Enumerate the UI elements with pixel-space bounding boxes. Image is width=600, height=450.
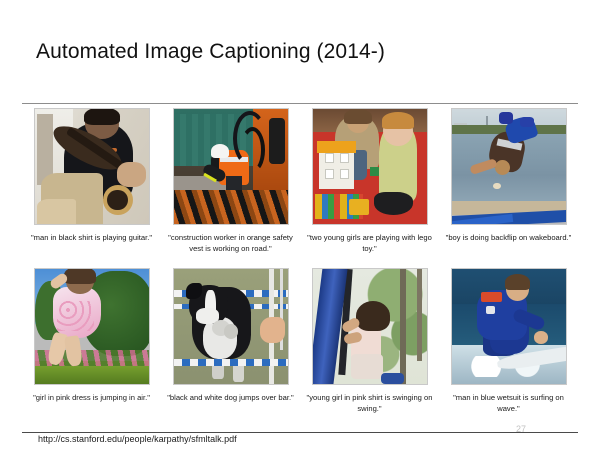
bottom-divider — [22, 432, 578, 433]
example-cell: "man in blue wetsuit is surfing on wave.… — [439, 268, 578, 414]
image-caption: "young girl in pink shirt is swinging on… — [305, 392, 435, 414]
image-caption: "man in black shirt is playing guitar." — [27, 232, 157, 243]
footer-source-url: http://cs.stanford.edu/people/karpathy/s… — [38, 434, 237, 444]
black-white-dog-jumping-photo — [173, 268, 289, 385]
caption-examples-grid: "man in black shirt is playing guitar." … — [22, 108, 578, 414]
image-caption: "construction worker in orange safety ve… — [166, 232, 296, 254]
construction-worker-photo — [173, 108, 289, 225]
image-caption: "girl in pink dress is jumping in air." — [27, 392, 157, 403]
grid-row: "girl in pink dress is jumping in air." … — [22, 268, 578, 414]
girls-playing-lego-photo — [312, 108, 428, 225]
image-caption: "two young girls are playing with lego t… — [305, 232, 435, 254]
image-caption: "black and white dog jumps over bar." — [166, 392, 296, 403]
man-playing-guitar-photo — [34, 108, 150, 225]
girl-pink-dress-jumping-photo — [34, 268, 150, 385]
page-title: Automated Image Captioning (2014-) — [36, 40, 385, 64]
top-divider — [22, 103, 578, 104]
grid-row: "man in black shirt is playing guitar." … — [22, 108, 578, 254]
slide: Automated Image Captioning (2014-) "man … — [0, 0, 600, 450]
boy-backflip-wakeboard-photo — [451, 108, 567, 225]
man-blue-wetsuit-surfing-photo — [451, 268, 567, 385]
image-caption: "man in blue wetsuit is surfing on wave.… — [444, 392, 574, 414]
example-cell: "boy is doing backflip on wakeboard." — [439, 108, 578, 254]
example-cell: "young girl in pink shirt is swinging on… — [300, 268, 439, 414]
example-cell: "construction worker in orange safety ve… — [161, 108, 300, 254]
image-caption: "boy is doing backflip on wakeboard." — [444, 232, 574, 243]
example-cell: "man in black shirt is playing guitar." — [22, 108, 161, 254]
example-cell: "girl in pink dress is jumping in air." — [22, 268, 161, 414]
girl-pink-shirt-swinging-photo — [312, 268, 428, 385]
example-cell: "two young girls are playing with lego t… — [300, 108, 439, 254]
example-cell: "black and white dog jumps over bar." — [161, 268, 300, 414]
